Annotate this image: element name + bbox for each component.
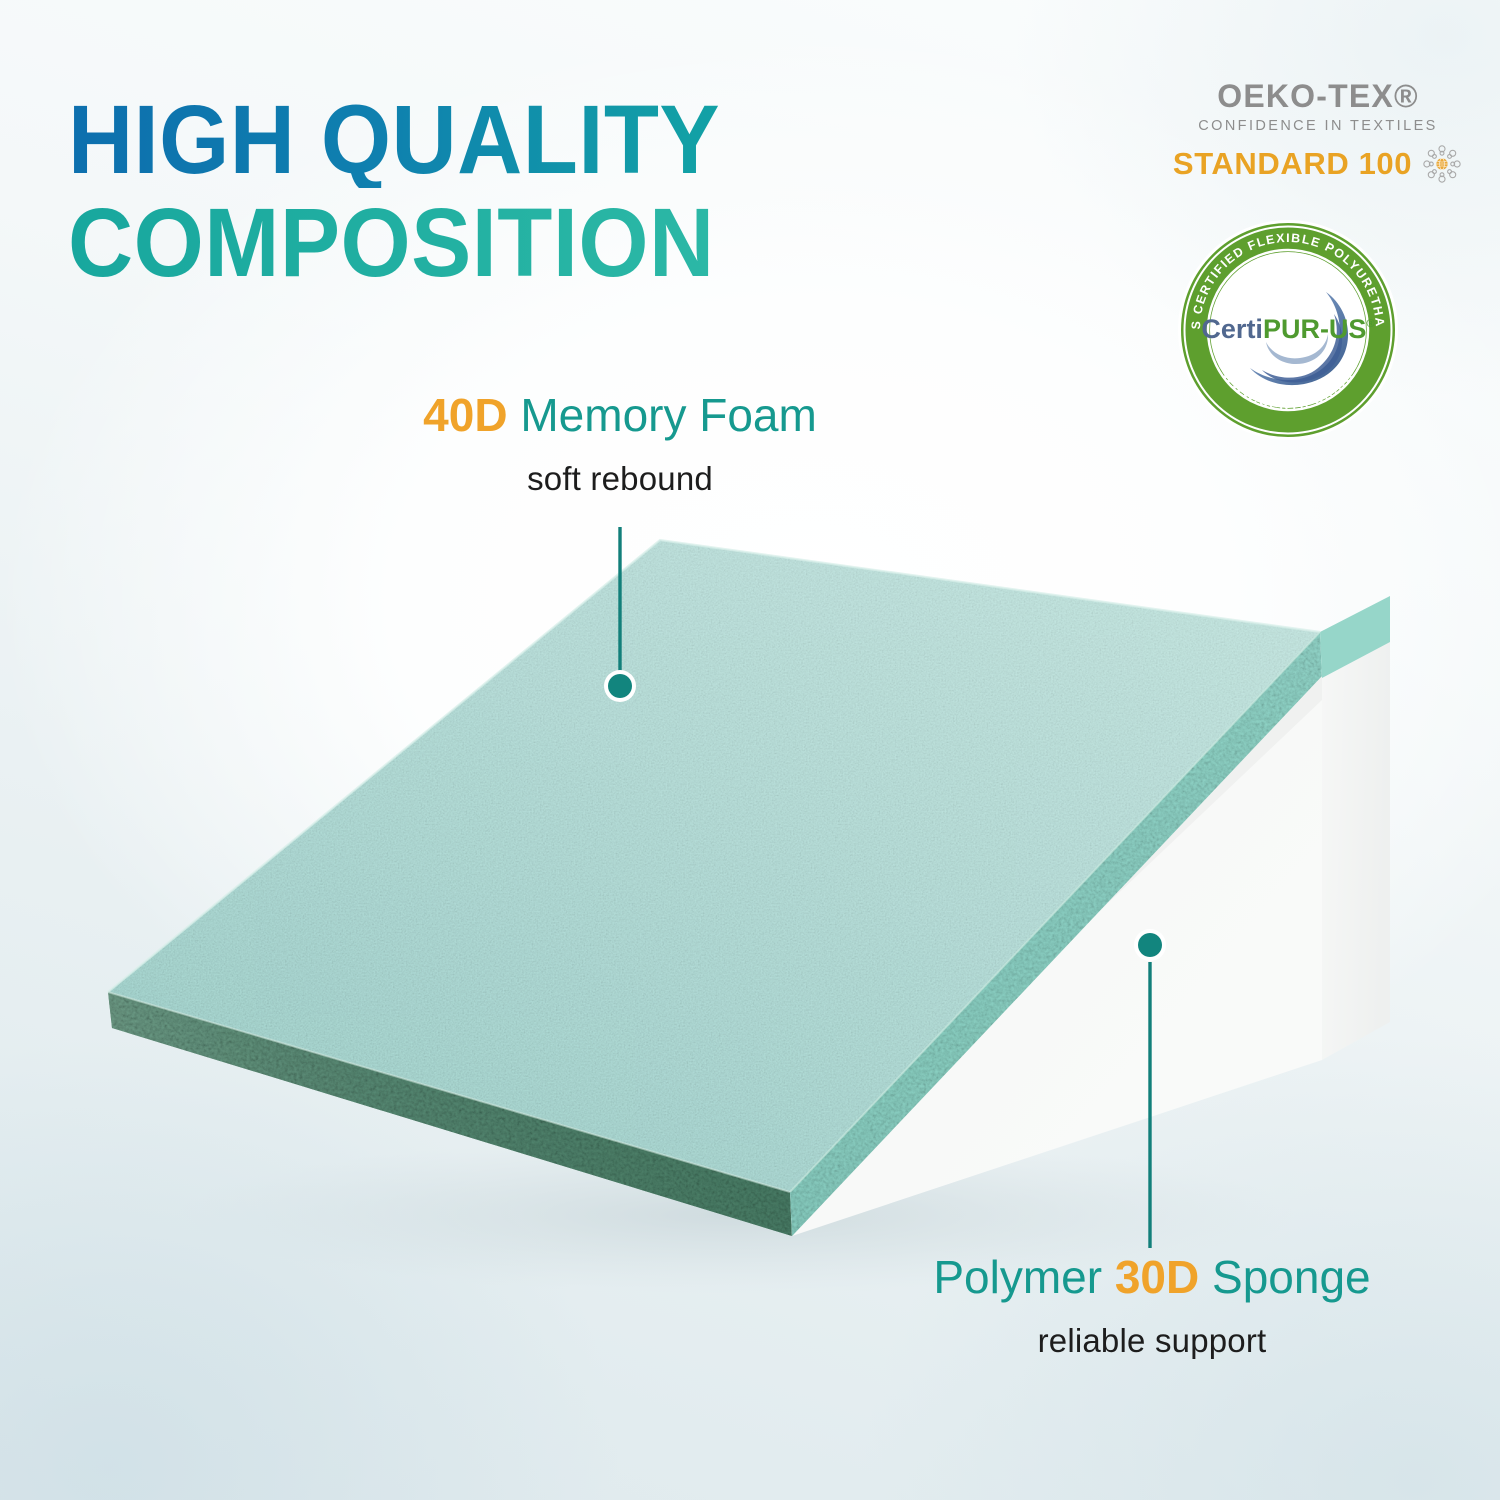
callout-dot-top-halo [604,670,636,702]
flower-globe-icon [1421,143,1463,185]
callout-dot-bottom [1138,933,1162,957]
callout-memory-foam: 40D Memory Foam soft rebound [340,392,900,495]
oeko-tex-wordmark: OEKO-TEX® [1188,80,1448,112]
callout-memory-foam-title: 40D Memory Foam [340,392,900,438]
sponge-front-face [112,676,1322,1236]
callout-dot-bottom-halo [1134,929,1166,961]
infographic-canvas: HIGH QUALITY COMPOSITION OEKO-TEX® CONFI… [0,0,1500,1500]
memory-foam-density: 40D [423,389,507,441]
certipur-us-badge: CONTAINS CERTIFIED FLEXIBLE POLYURETHANE… [1176,218,1400,442]
callout-polymer-sponge-title: Polymer 30D Sponge [842,1254,1462,1300]
foam-right-corner [1320,596,1390,678]
sponge-label: Sponge [1199,1251,1370,1303]
sponge-density: 30D [1115,1251,1199,1303]
polymer-prefix: Polymer [933,1251,1114,1303]
heading-line-1: HIGH QUALITY [68,92,1007,188]
memory-foam-subtitle: soft rebound [340,462,900,495]
memory-foam-label: Memory Foam [508,389,817,441]
polymer-sponge-subtitle: reliable support [842,1324,1462,1357]
callout-polymer-sponge: Polymer 30D Sponge reliable support [842,1254,1462,1357]
page-title: HIGH QUALITY COMPOSITION [68,92,1078,291]
oeko-tex-standard-label: STANDARD 100 [1173,148,1412,179]
background-vignette-bottom-left [0,1020,640,1500]
oeko-tex-tagline: CONFIDENCE IN TEXTILES [1188,119,1448,134]
heading-line-2: COMPOSITION [68,195,1007,291]
sponge-right-face [1322,640,1390,1060]
callout-dot-top [608,674,632,698]
certipur-wordmark: CertiPUR-US® [1201,314,1374,344]
oeko-tex-standard-100-badge: OEKO-TEX® CONFIDENCE IN TEXTILES STANDAR… [1188,80,1448,185]
